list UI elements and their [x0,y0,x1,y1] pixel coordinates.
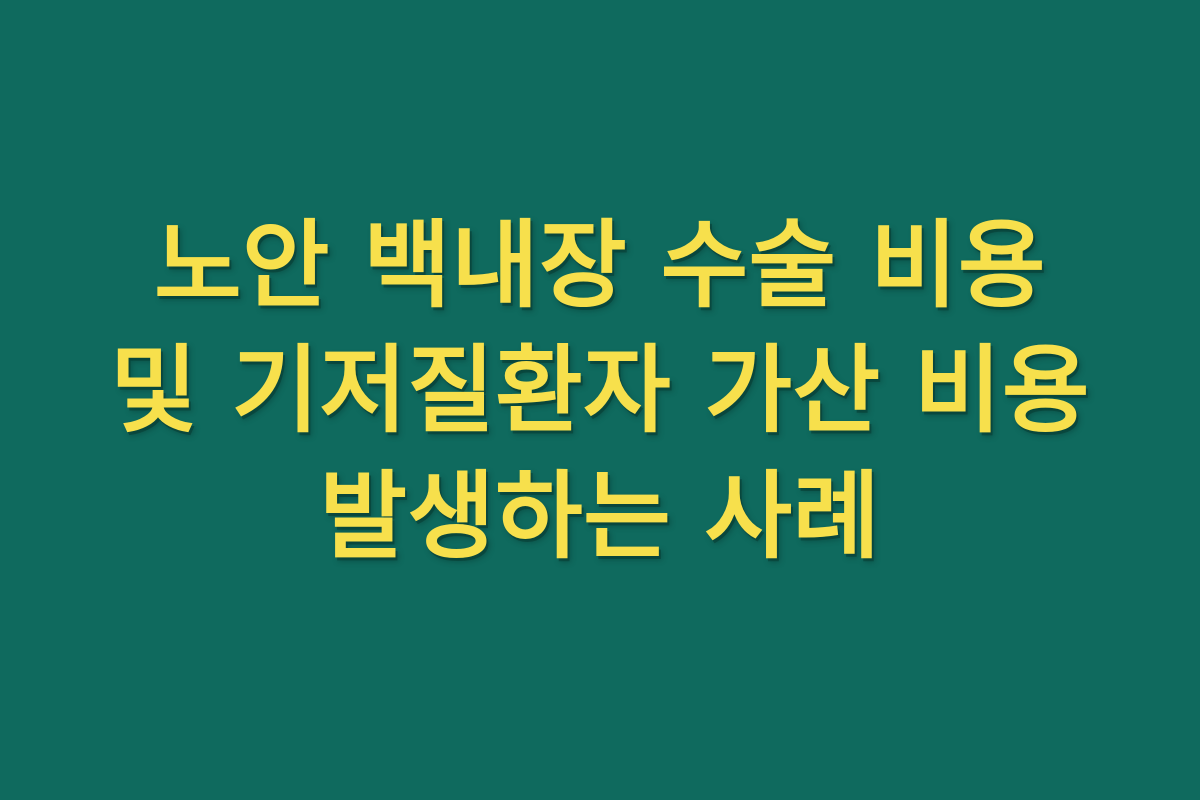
title-line-3: 발생하는 사례 [320,457,881,579]
title-block: 노안 백내장 수술 비용 및 기저질환자 가산 비용 발생하는 사례 [60,206,1140,579]
title-line-1: 노안 백내장 수술 비용 [154,206,1046,328]
title-line-2: 및 기저질환자 가산 비용 [110,331,1090,453]
thumbnail-card: 노안 백내장 수술 비용 및 기저질환자 가산 비용 발생하는 사례 [0,0,1200,800]
